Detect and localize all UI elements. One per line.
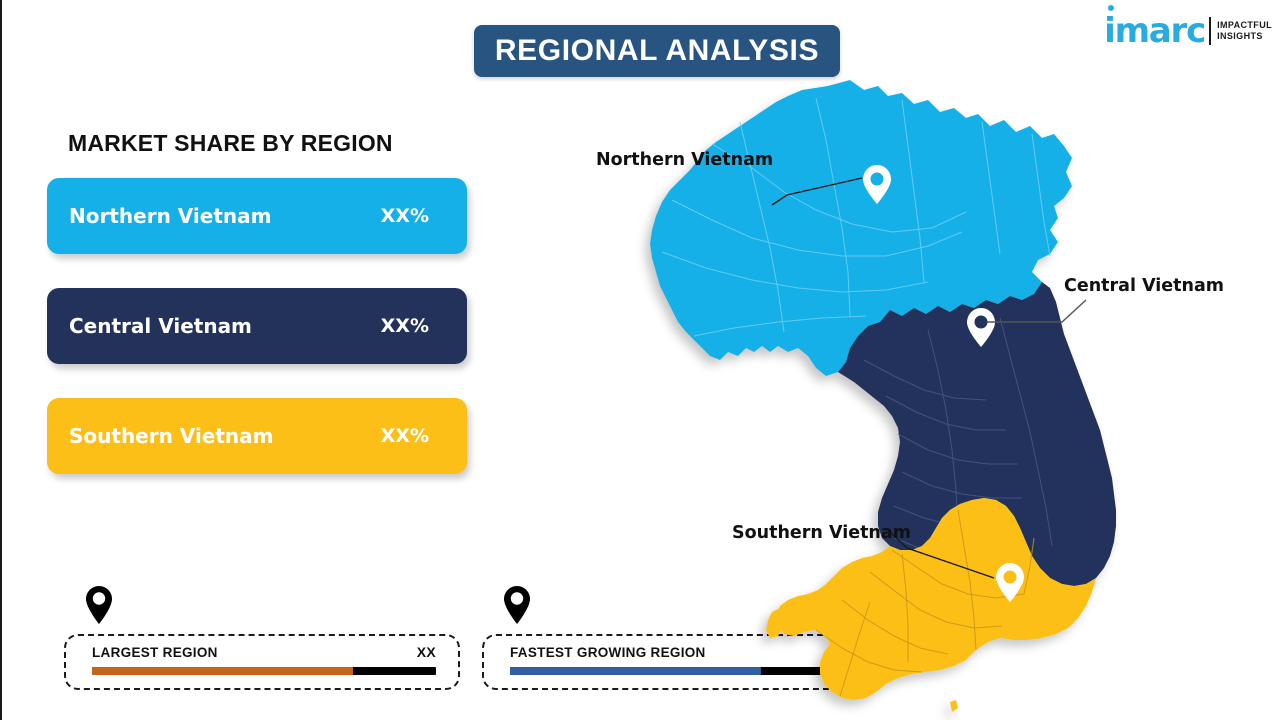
legend-list: Northern Vietnam XX% Central Vietnam XX%… bbox=[47, 178, 467, 474]
regional-analysis-slide: REGIONAL ANALYSIS imarc IMPACTFUL INSIGH… bbox=[0, 0, 1280, 720]
legend-value-northern: XX% bbox=[381, 205, 429, 227]
legend-value-southern: XX% bbox=[381, 425, 429, 447]
largest-region-row: LARGEST REGION XX bbox=[92, 644, 436, 660]
largest-region-box: LARGEST REGION XX bbox=[64, 634, 460, 690]
largest-region-title: LARGEST REGION bbox=[92, 645, 218, 660]
legend-item-southern[interactable]: Southern Vietnam XX% bbox=[47, 398, 467, 474]
legend-label-northern: Northern Vietnam bbox=[69, 204, 271, 228]
map-pin-icon bbox=[84, 585, 114, 625]
logo-wordmark: imarc bbox=[1104, 14, 1205, 48]
largest-region-progress-track bbox=[92, 667, 436, 675]
legend-item-northern[interactable]: Northern Vietnam XX% bbox=[47, 178, 467, 254]
map-label-central: Central Vietnam bbox=[1064, 276, 1224, 296]
largest-region-progress-fill bbox=[92, 667, 353, 675]
map-label-southern: Southern Vietnam bbox=[732, 523, 911, 543]
logo-word-text: imarc bbox=[1104, 11, 1205, 51]
market-share-heading: MARKET SHARE BY REGION bbox=[68, 130, 393, 157]
logo-tagline-line2: INSIGHTS bbox=[1217, 31, 1272, 42]
logo-tagline-line1: IMPACTFUL bbox=[1217, 20, 1272, 31]
logo-tagline: IMPACTFUL INSIGHTS bbox=[1217, 20, 1272, 42]
map-pin-icon bbox=[502, 585, 532, 625]
map-island-phuquoc bbox=[766, 608, 786, 638]
legend-label-central: Central Vietnam bbox=[69, 314, 252, 338]
legend-label-southern: Southern Vietnam bbox=[69, 424, 274, 448]
imarc-logo: imarc IMPACTFUL INSIGHTS bbox=[1104, 8, 1272, 54]
map-island-tail bbox=[950, 700, 958, 712]
logo-divider bbox=[1209, 17, 1211, 45]
map-label-northern: Northern Vietnam bbox=[596, 150, 773, 170]
legend-value-central: XX% bbox=[381, 315, 429, 337]
legend-item-central[interactable]: Central Vietnam XX% bbox=[47, 288, 467, 364]
largest-region-value: XX bbox=[417, 644, 436, 660]
